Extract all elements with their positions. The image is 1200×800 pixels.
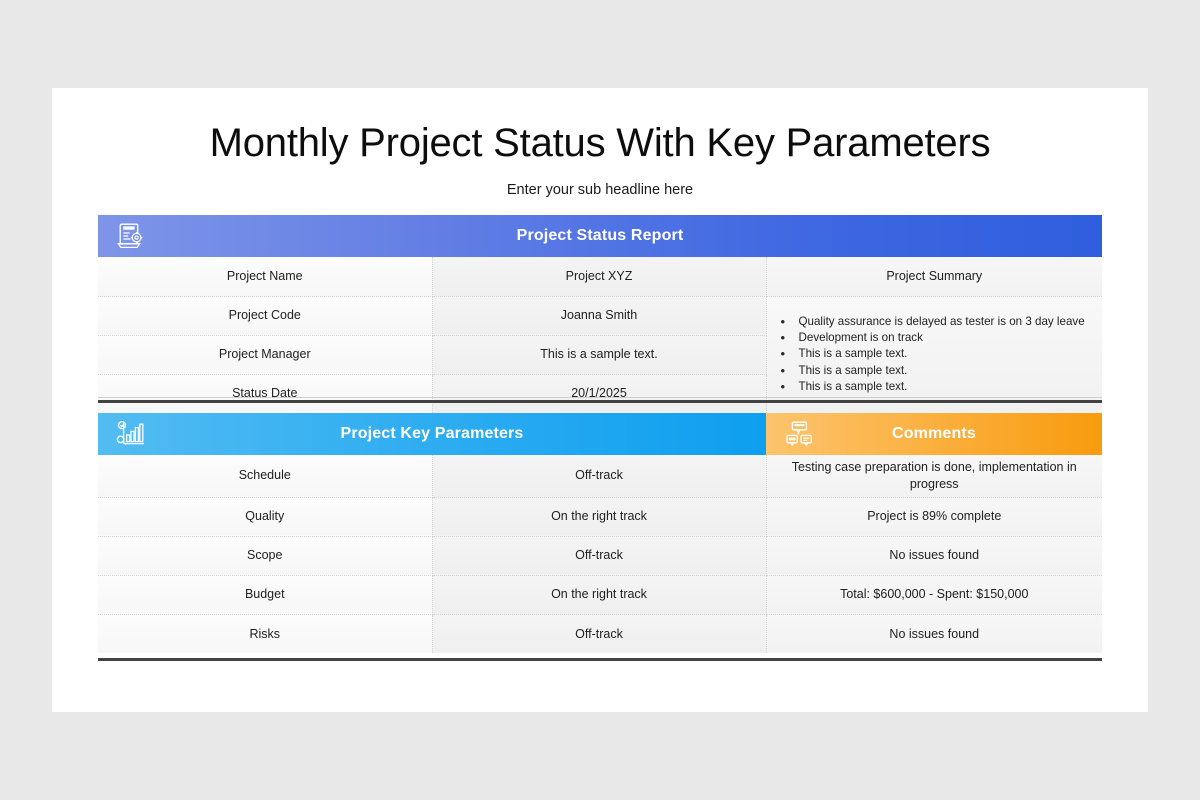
table-row: Scope Off-track No issues found [98, 536, 1102, 575]
slide-card: Monthly Project Status With Key Paramete… [52, 88, 1148, 712]
table-divider-rule [98, 400, 1102, 403]
comment-icon [784, 420, 814, 448]
table-row: Schedule Off-track Testing case preparat… [98, 455, 1102, 497]
slide-content: Monthly Project Status With Key Paramete… [98, 88, 1102, 712]
table-row: Budget On the right track Total: $600,00… [98, 575, 1102, 614]
parameter-comment: Testing case preparation is done, implem… [766, 455, 1102, 497]
project-summary-cell: Quality assurance is delayed as tester i… [766, 296, 1102, 413]
row-value: Joanna Smith [432, 296, 766, 335]
list-item: This is a sample text. [777, 346, 1093, 361]
parameter-label: Quality [98, 497, 432, 536]
parameter-status: On the right track [432, 497, 766, 536]
row-label: Project Code [98, 296, 432, 335]
parameter-comment: No issues found [766, 536, 1102, 575]
row-value: 20/1/2025 [432, 374, 766, 413]
project-summary-title: Project Summary [766, 257, 1102, 296]
parameter-label: Risks [98, 614, 432, 653]
project-key-parameters-table: Project Key Parameters [98, 413, 1102, 653]
table-row: Quality On the right track Project is 89… [98, 497, 1102, 536]
row-label: Project Name [98, 257, 432, 296]
project-status-report-title: Project Status Report [98, 215, 1102, 257]
list-item: Quality assurance is delayed as tester i… [777, 314, 1093, 329]
project-status-report-table: Project Status Report Project Name Proje… [98, 215, 1102, 414]
table-row: Project Code Joanna Smith Quality assura… [98, 296, 1102, 335]
parameter-comment: Project is 89% complete [766, 497, 1102, 536]
list-item: This is a sample text. [777, 379, 1093, 394]
project-summary-list: Quality assurance is delayed as tester i… [777, 314, 1093, 394]
page-title: Monthly Project Status With Key Paramete… [98, 88, 1102, 168]
project-key-parameters-band: Project Key Parameters [98, 413, 766, 455]
project-status-report-band: Project Status Report [98, 215, 1102, 257]
table-bottom-rule [98, 658, 1102, 661]
row-value: This is a sample text. [432, 335, 766, 374]
table-row: Risks Off-track No issues found [98, 614, 1102, 653]
bar-chart-icon [116, 420, 146, 448]
project-key-parameters-title: Project Key Parameters [98, 413, 766, 455]
row-label: Project Manager [98, 335, 432, 374]
parameter-comment: Total: $600,000 - Spent: $150,000 [766, 575, 1102, 614]
parameter-comment: No issues found [766, 614, 1102, 653]
row-label: Status Date [98, 374, 432, 413]
parameter-status: Off-track [432, 455, 766, 497]
comments-title: Comments [766, 413, 1102, 455]
table-row: Project Name Project XYZ Project Summary [98, 257, 1102, 296]
parameter-label: Scope [98, 536, 432, 575]
parameter-status: Off-track [432, 536, 766, 575]
row-value: Project XYZ [432, 257, 766, 296]
parameter-status: On the right track [432, 575, 766, 614]
list-item: This is a sample text. [777, 363, 1093, 378]
project-report-icon [116, 222, 146, 250]
table-divider-hairline [98, 397, 1102, 398]
list-item: Development is on track [777, 330, 1093, 345]
comments-band: Comments [766, 413, 1102, 455]
parameter-label: Budget [98, 575, 432, 614]
page-subtitle: Enter your sub headline here [98, 182, 1102, 198]
project-status-report-header-row: Project Status Report [98, 215, 1102, 257]
parameter-label: Schedule [98, 455, 432, 497]
project-key-parameters-header-row: Project Key Parameters [98, 413, 1102, 455]
parameter-status: Off-track [432, 614, 766, 653]
